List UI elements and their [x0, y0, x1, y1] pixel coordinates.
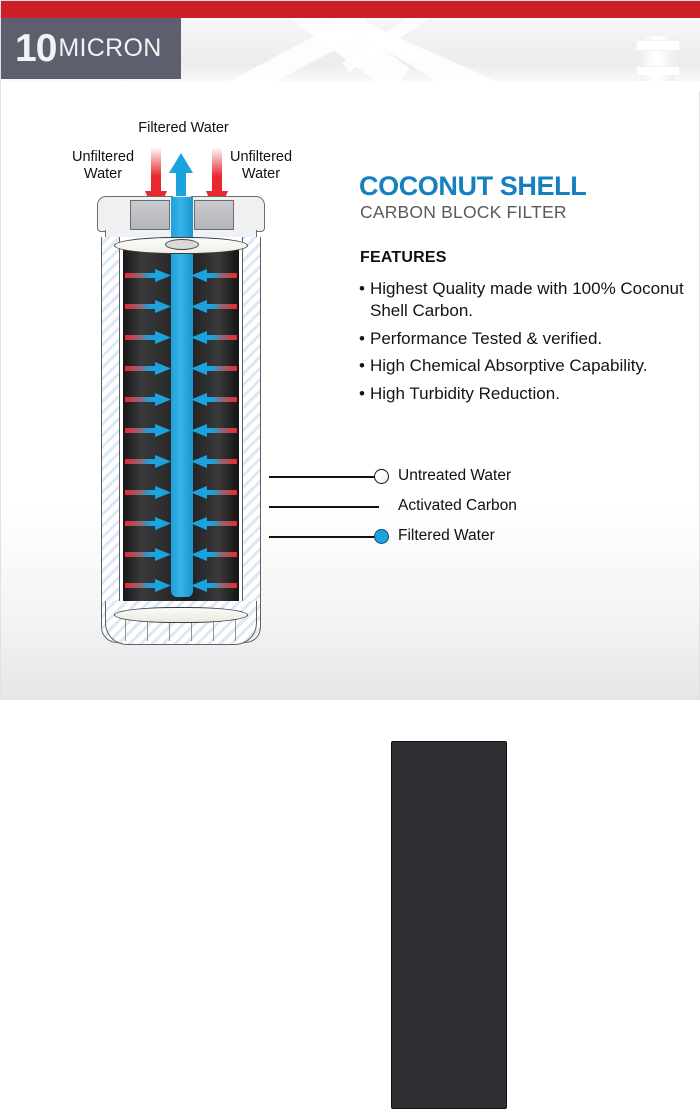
feature-text: Performance Tested & verified. — [370, 328, 684, 350]
page-title: COCONUT SHELL — [359, 173, 586, 200]
flow-arrow-left — [125, 548, 171, 561]
diagram-label-filtered-water: Filtered Water — [121, 120, 246, 137]
feature-text: High Turbidity Reduction. — [370, 383, 684, 405]
flow-arrow-left — [125, 424, 171, 437]
micron-rating-badge: 10 MICRON — [1, 18, 181, 79]
flow-arrow-right — [191, 424, 237, 437]
flow-arrow-right — [191, 455, 237, 468]
bullet-icon: • — [359, 383, 370, 405]
list-item: • Highest Quality made with 100% Coconut… — [359, 278, 684, 322]
micron-rating-number: 10 — [15, 29, 56, 68]
features-heading: FEATURES — [360, 249, 447, 267]
infographic-page: 10 MICRON COCONUT SHELL CARBON BLOCK FIL… — [0, 0, 700, 700]
micron-rating-unit: MICRON — [58, 36, 161, 62]
label-line-1: Unfiltered — [219, 149, 303, 166]
flow-arrow-left — [125, 579, 171, 592]
flow-arrow-right — [191, 331, 237, 344]
flow-arrow-left — [125, 362, 171, 375]
flow-arrow-left — [125, 486, 171, 499]
feature-text: High Chemical Absorptive Capability. — [370, 355, 684, 377]
flow-arrow-right — [191, 362, 237, 375]
diagram-label-unfiltered-water-left: Unfiltered Water — [61, 149, 145, 182]
legend-label: Untreated Water — [398, 467, 511, 485]
carbon-block-bottom-gasket — [114, 607, 248, 623]
list-item: • High Turbidity Reduction. — [359, 383, 684, 405]
flow-arrow-left — [125, 300, 171, 313]
carbon-block-top-port — [165, 239, 199, 250]
label-line-2: Water — [219, 166, 303, 183]
diagram-label-unfiltered-water-right: Unfiltered Water — [219, 149, 303, 182]
filter-cutaway-diagram: Filtered Water Unfiltered Water Unfilter… — [1, 1, 351, 701]
housing-inlet-port-right — [194, 200, 234, 230]
legend-label: Filtered Water — [398, 527, 495, 545]
flow-arrow-left — [125, 331, 171, 344]
feature-text: Highest Quality made with 100% Coconut S… — [370, 278, 684, 322]
legend-swatch-untreated-water-icon — [374, 469, 389, 484]
flow-arrow-right — [191, 517, 237, 530]
label-line-1: Unfiltered — [61, 149, 145, 166]
flow-arrow-left — [125, 393, 171, 406]
housing-inlet-port-left — [130, 200, 170, 230]
legend-swatch-activated-carbon-icon — [391, 741, 507, 1109]
flow-arrow-right — [191, 393, 237, 406]
flow-arrow-right — [191, 300, 237, 313]
list-item: • High Chemical Absorptive Capability. — [359, 355, 684, 377]
bullet-icon: • — [359, 278, 370, 322]
legend-swatch-filtered-water-icon — [374, 529, 389, 544]
filtered-water-core-tube — [171, 223, 193, 597]
legend-label: Activated Carbon — [398, 497, 517, 515]
flow-arrow-left — [125, 455, 171, 468]
page-subtitle: CARBON BLOCK FILTER — [360, 204, 567, 222]
flow-arrow-right — [191, 486, 237, 499]
header-housing-ring-watermark — [637, 66, 679, 75]
header-housing-cap-watermark — [637, 40, 679, 51]
flow-arrow-right — [191, 269, 237, 282]
flow-arrow-left — [125, 269, 171, 282]
flow-arrow-right — [191, 579, 237, 592]
flow-arrow-left — [125, 517, 171, 530]
flow-arrow-right — [191, 548, 237, 561]
bullet-icon: • — [359, 355, 370, 377]
features-list: • Highest Quality made with 100% Coconut… — [359, 278, 684, 411]
bullet-icon: • — [359, 328, 370, 350]
list-item: • Performance Tested & verified. — [359, 328, 684, 350]
label-line-2: Water — [61, 166, 145, 183]
